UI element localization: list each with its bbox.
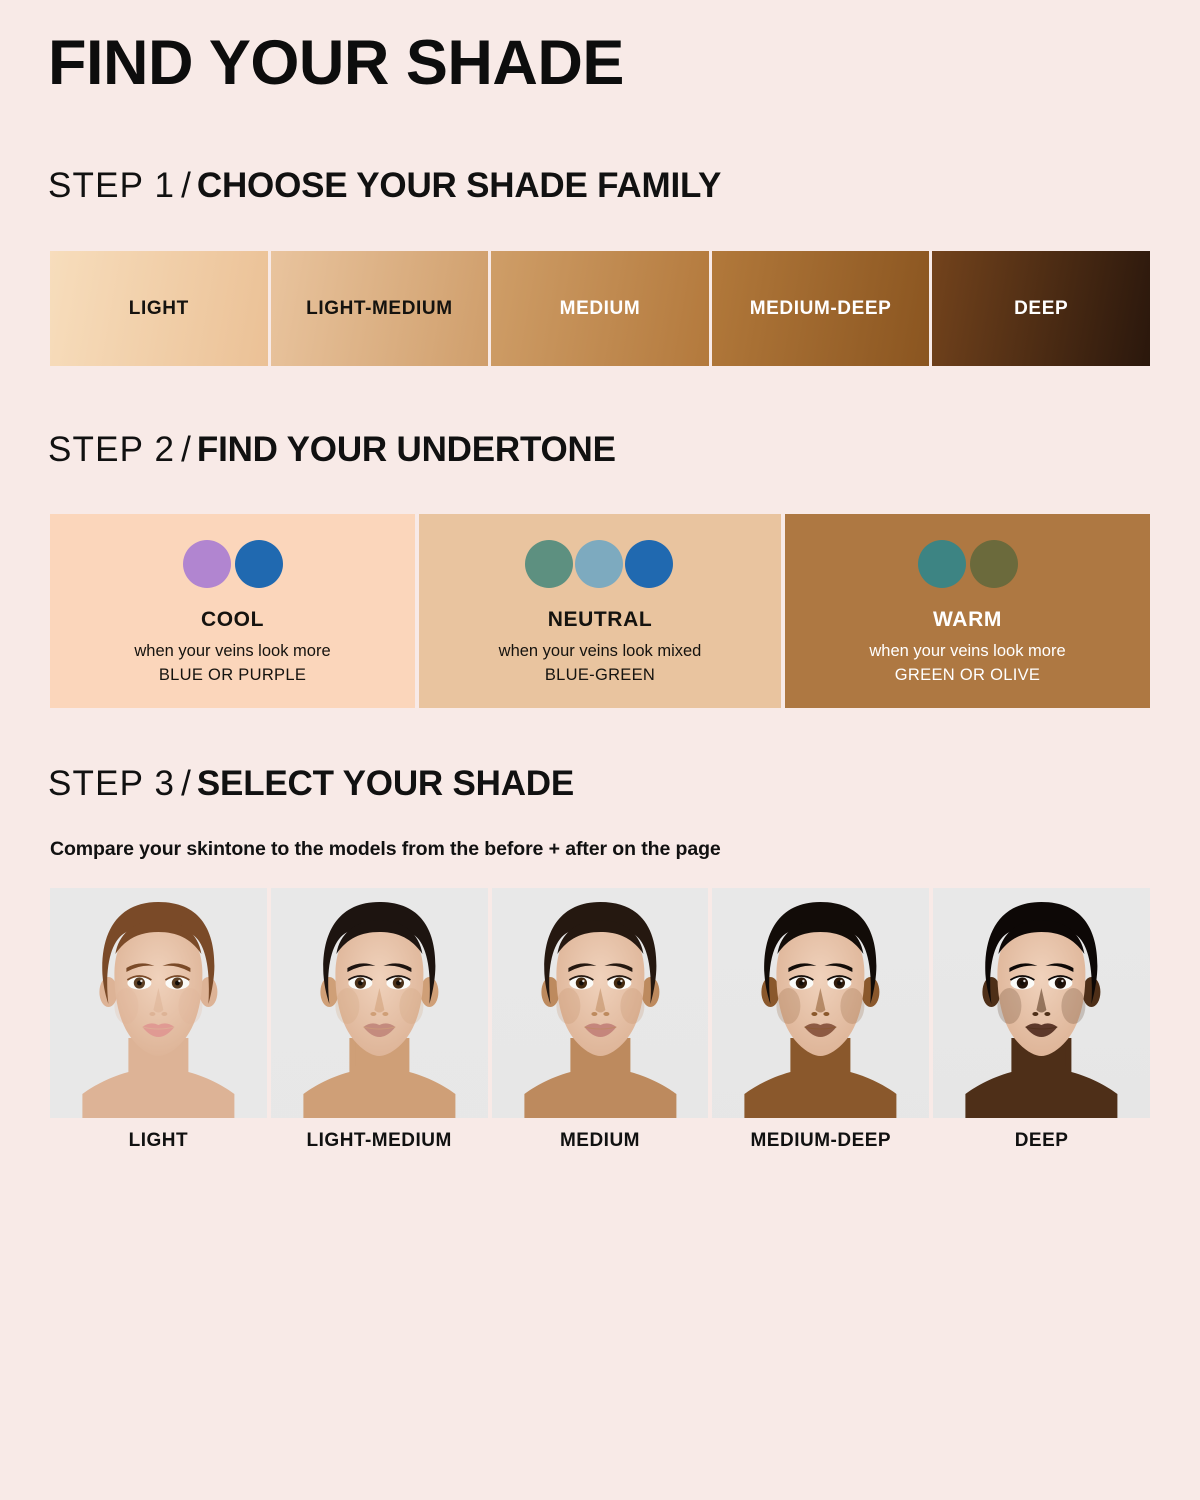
step-3-label: STEP 3	[48, 764, 175, 803]
model-shade-label: MEDIUM	[492, 1124, 709, 1158]
undertone-description-line-2: BLUE OR PURPLE	[159, 664, 306, 686]
vein-color-dot-icon	[970, 540, 1018, 588]
undertone-description-line-2: BLUE-GREEN	[545, 664, 655, 686]
shade-family-bar: LIGHTLIGHT-MEDIUMMEDIUMMEDIUM-DEEPDEEP	[50, 251, 1150, 366]
shade-family-swatch[interactable]: LIGHT	[50, 251, 268, 366]
step-2-heading: STEP 2/FIND YOUR UNDERTONE	[48, 432, 616, 467]
vein-color-dot-icon	[183, 540, 231, 588]
undertone-name: WARM	[933, 608, 1002, 632]
undertone-vein-dots	[918, 540, 1018, 588]
model-shade-label: DEEP	[933, 1124, 1150, 1158]
step-3-heading: STEP 3/SELECT YOUR SHADE	[48, 766, 574, 801]
shade-family-swatch[interactable]: LIGHT-MEDIUM	[271, 251, 489, 366]
shade-family-label: DEEP	[1014, 298, 1068, 320]
vein-color-dot-icon	[625, 540, 673, 588]
model-shade-label: LIGHT-MEDIUM	[271, 1124, 488, 1158]
model-label-strip: LIGHTLIGHT-MEDIUMMEDIUMMEDIUM-DEEPDEEP	[50, 1124, 1150, 1158]
undertone-description-line-1: when your veins look mixed	[499, 640, 702, 662]
step-2-label: STEP 2	[48, 430, 175, 469]
undertone-name: COOL	[201, 608, 264, 632]
vein-color-dot-icon	[575, 540, 623, 588]
step-1-title: CHOOSE YOUR SHADE FAMILY	[197, 166, 721, 205]
model-photo[interactable]	[271, 888, 488, 1118]
undertone-vein-dots	[525, 540, 675, 588]
shade-finder-page: FIND YOUR SHADE STEP 1/CHOOSE YOUR SHADE…	[0, 0, 1200, 1500]
page-title: FIND YOUR SHADE	[48, 32, 624, 95]
shade-family-label: LIGHT-MEDIUM	[306, 298, 453, 320]
undertone-description-line-2: GREEN OR OLIVE	[895, 664, 1040, 686]
undertone-panel-cool[interactable]: COOLwhen your veins look moreBLUE OR PUR…	[50, 514, 415, 708]
model-photo[interactable]	[50, 888, 267, 1118]
undertone-name: NEUTRAL	[548, 608, 653, 632]
step-1-separator: /	[175, 166, 197, 205]
model-shade-label: MEDIUM-DEEP	[712, 1124, 929, 1158]
undertone-description-line-1: when your veins look more	[134, 640, 330, 662]
shade-family-swatch[interactable]: MEDIUM	[491, 251, 709, 366]
undertone-vein-dots	[183, 540, 283, 588]
vein-color-dot-icon	[918, 540, 966, 588]
model-shade-label: LIGHT	[50, 1124, 267, 1158]
shade-family-swatch[interactable]: DEEP	[932, 251, 1150, 366]
shade-family-label: MEDIUM-DEEP	[750, 298, 892, 320]
model-photo[interactable]	[492, 888, 709, 1118]
step-3-separator: /	[175, 764, 197, 803]
undertone-panel-warm[interactable]: WARMwhen your veins look moreGREEN OR OL…	[785, 514, 1150, 708]
step-3-subtitle: Compare your skintone to the models from…	[50, 838, 721, 861]
shade-family-label: LIGHT	[129, 298, 189, 320]
undertone-panels: COOLwhen your veins look moreBLUE OR PUR…	[50, 514, 1150, 708]
model-photo[interactable]	[712, 888, 929, 1118]
shade-family-label: MEDIUM	[560, 298, 641, 320]
shade-family-swatch[interactable]: MEDIUM-DEEP	[712, 251, 930, 366]
model-photo[interactable]	[933, 888, 1150, 1118]
step-2-separator: /	[175, 430, 197, 469]
model-photo-strip	[50, 888, 1150, 1118]
vein-color-dot-icon	[525, 540, 573, 588]
vein-color-dot-icon	[235, 540, 283, 588]
step-1-heading: STEP 1/CHOOSE YOUR SHADE FAMILY	[48, 168, 721, 203]
step-1-label: STEP 1	[48, 166, 175, 205]
step-2-title: FIND YOUR UNDERTONE	[197, 430, 616, 469]
step-3-title: SELECT YOUR SHADE	[197, 764, 574, 803]
undertone-description-line-1: when your veins look more	[869, 640, 1065, 662]
undertone-panel-neutral[interactable]: NEUTRALwhen your veins look mixedBLUE-GR…	[419, 514, 781, 708]
